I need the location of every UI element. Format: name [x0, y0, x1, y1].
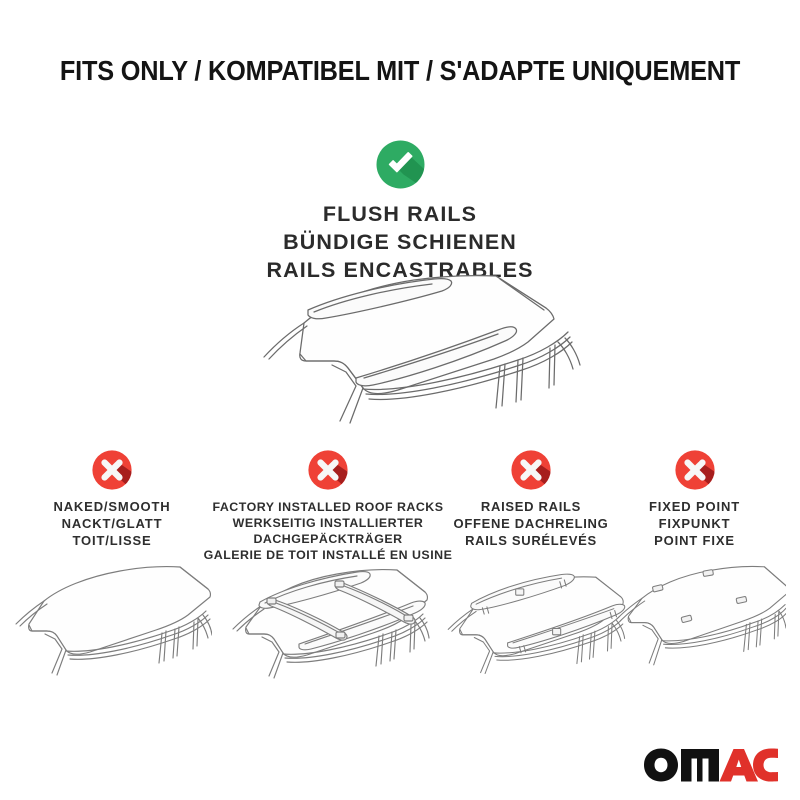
omac-logo	[644, 748, 778, 782]
option-naked-smooth-labels: NAKED/SMOOTH NACKT/GLATT TOIT/LISSE	[12, 499, 212, 550]
option-label-en: FIXED POINT	[612, 499, 777, 516]
compatible-label-en: FLUSH RAILS	[0, 201, 800, 229]
option-label-de-1: WERKSEITIG INSTALLIERTER	[203, 515, 453, 531]
x-circle-icon	[675, 450, 715, 490]
option-raised-rails: RAISED RAILS OFFENE DACHRELING RAILS SUR…	[440, 445, 622, 550]
x-circle-icon	[308, 450, 348, 490]
option-fixed-point-labels: FIXED POINT FIXPUNKT POINT FIXE	[612, 499, 777, 550]
option-label-de-2: DACHGEPÄCKTRÄGER	[203, 531, 453, 547]
option-label-en: NAKED/SMOOTH	[12, 499, 212, 516]
option-fixed-point: FIXED POINT FIXPUNKT POINT FIXE	[612, 445, 777, 550]
car-roof-naked-illustration	[12, 557, 212, 682]
car-roof-raised-rails-illustration	[440, 550, 622, 685]
car-roof-fixed-point-illustration	[612, 545, 777, 680]
option-label-de: NACKT/GLATT	[12, 516, 212, 533]
option-label-en: RAISED RAILS	[440, 499, 622, 516]
option-naked-smooth: NAKED/SMOOTH NACKT/GLATT TOIT/LISSE	[12, 445, 212, 550]
compatible-label-de: BÜNDIGE SCHIENEN	[0, 229, 800, 257]
car-roof-flush-rails-illustration	[228, 268, 584, 433]
option-label-de: OFFENE DACHRELING	[440, 516, 622, 533]
x-circle-icon	[92, 450, 132, 490]
page-title: FITS ONLY / KOMPATIBEL MIT / S'ADAPTE UN…	[32, 55, 768, 87]
compatible-section: FLUSH RAILS BÜNDIGE SCHIENEN RAILS ENCAS…	[0, 140, 800, 285]
incompatible-section: NAKED/SMOOTH NACKT/GLATT TOIT/LISSE	[0, 445, 800, 705]
check-circle-icon	[376, 140, 425, 189]
option-factory-roof-racks: FACTORY INSTALLED ROOF RACKS WERKSEITIG …	[203, 445, 453, 564]
option-label-fr: TOIT/LISSE	[12, 533, 212, 550]
car-roof-factory-racks-illustration	[203, 550, 453, 685]
option-raised-rails-labels: RAISED RAILS OFFENE DACHRELING RAILS SUR…	[440, 499, 622, 550]
option-label-en: FACTORY INSTALLED ROOF RACKS	[203, 499, 453, 515]
option-label-de: FIXPUNKT	[612, 516, 777, 533]
option-label-fr: RAILS SURÉLEVÉS	[440, 533, 622, 550]
x-circle-icon	[511, 450, 551, 490]
